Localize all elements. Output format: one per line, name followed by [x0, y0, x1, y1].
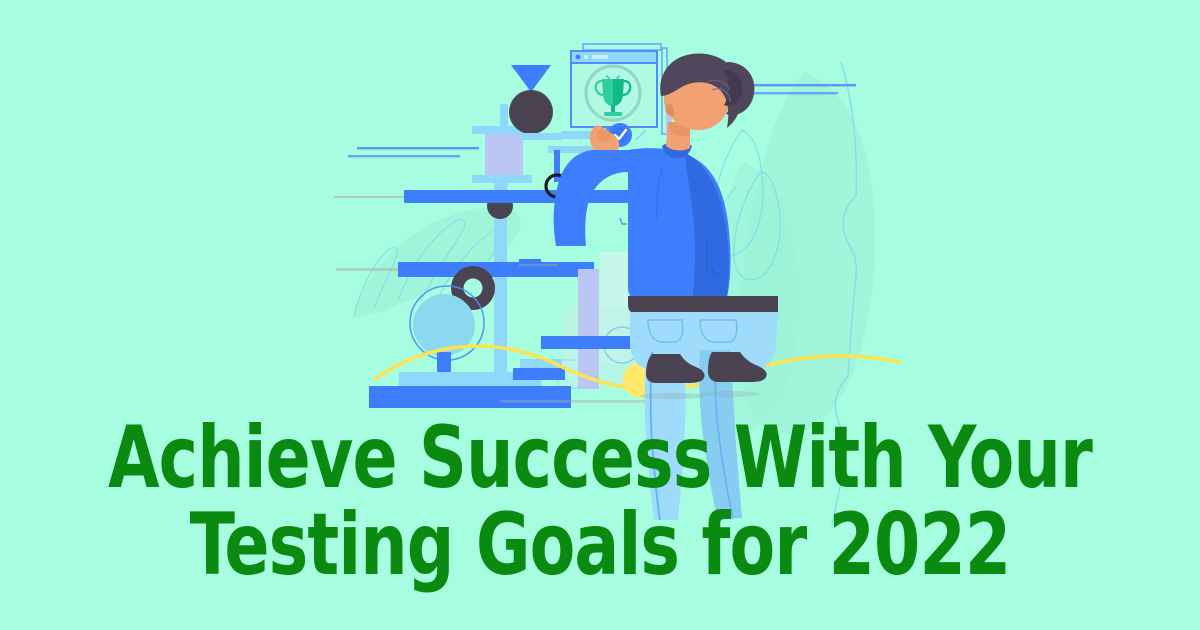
shelf-lower: [398, 262, 594, 277]
title-line-1: Achieve Success With Your: [84, 418, 1116, 499]
window-dot-blue: [576, 55, 581, 60]
belt: [668, 296, 778, 312]
title-line-2: Testing Goals for 2022: [84, 505, 1116, 586]
weight-large: [509, 90, 553, 134]
banner: Achieve Success With Your Testing Goals …: [0, 0, 1200, 630]
window-address-bar: [592, 55, 608, 59]
column-tall: [578, 269, 599, 389]
cross-bar: [541, 336, 644, 349]
window-dot-light: [584, 55, 588, 59]
base-lower: [369, 386, 571, 408]
page-title: Achieve Success With Your Testing Goals …: [0, 418, 1200, 586]
